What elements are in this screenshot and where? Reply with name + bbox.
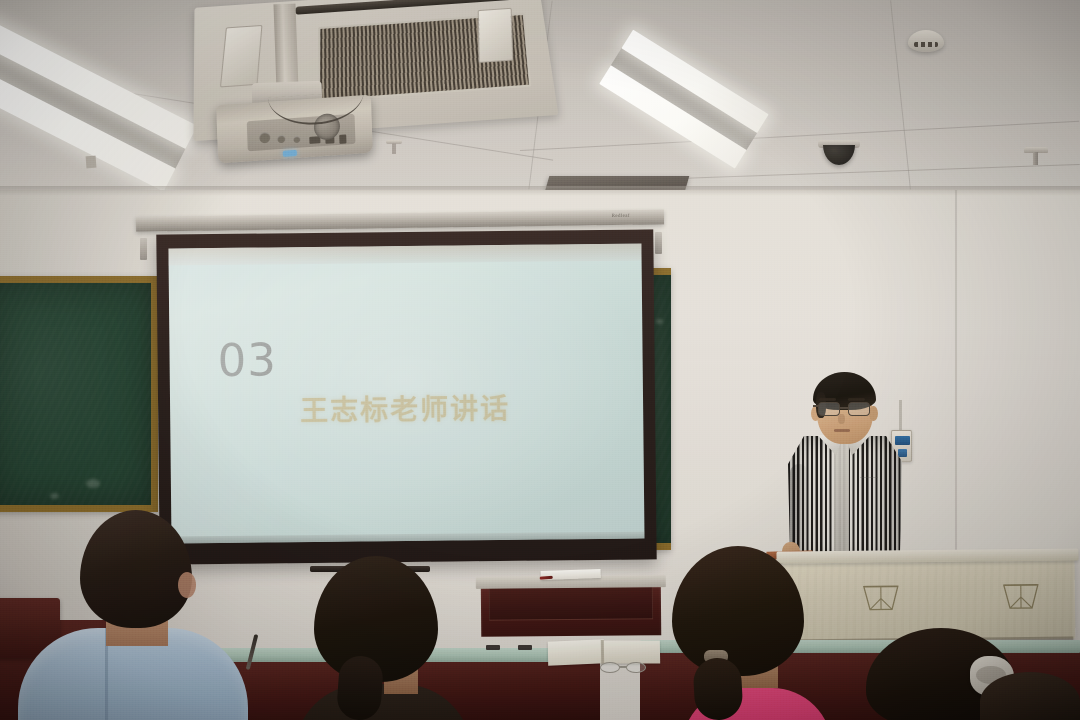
audience-member-ponytail-pink	[648, 546, 848, 720]
basket-motif-icon-right	[999, 577, 1043, 613]
audience-member-blue-shirt	[18, 510, 248, 720]
front-desk	[481, 575, 662, 639]
blackboard-left	[0, 276, 158, 512]
audience-member-ponytail-left	[288, 556, 474, 720]
eyeglasses-icon	[816, 402, 874, 417]
presenter	[786, 372, 904, 567]
dome-camera-icon	[818, 140, 860, 166]
sprinkler-icon	[1024, 147, 1048, 167]
projector-status-led	[283, 150, 297, 157]
screen-brand-label: Redleaf	[612, 214, 630, 219]
basket-motif-icon-left	[859, 578, 903, 614]
slide-title: 王志标老师讲话	[300, 387, 510, 429]
projector-foot	[86, 156, 97, 169]
smoke-detector-icon	[908, 30, 944, 52]
sprinkler-icon-secondary	[386, 140, 402, 156]
screen-bracket-right	[655, 232, 662, 254]
eyeglasses-on-desk-icon	[600, 662, 648, 674]
slide-surface: 03 王志标老师讲话	[168, 244, 644, 544]
slide-number: 03	[217, 333, 277, 387]
classroom-photo: Redleaf 03 王志标老师讲话	[0, 0, 1080, 720]
wall-ceiling-joint	[0, 186, 1080, 196]
projector	[216, 95, 373, 164]
audience-member-edge	[980, 672, 1080, 720]
projector-mount-pole	[274, 4, 299, 91]
screen-bracket-left	[140, 238, 147, 260]
